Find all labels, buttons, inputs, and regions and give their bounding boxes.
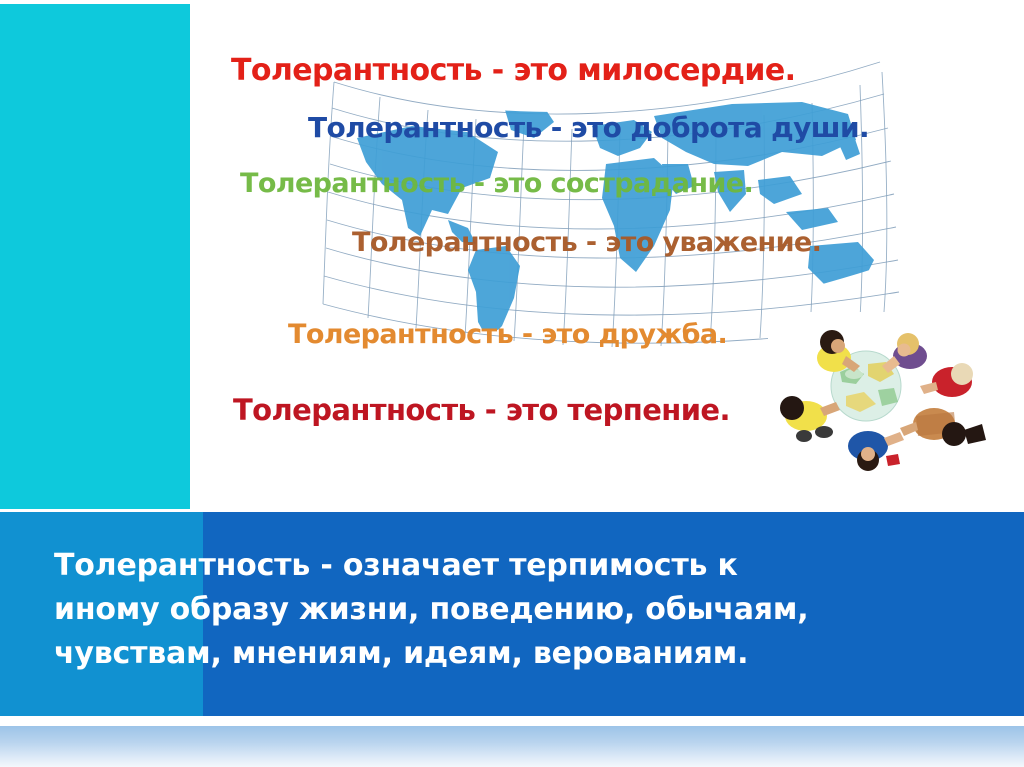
slogan-line-6: Толерантность - это терпение. bbox=[233, 396, 730, 425]
left-accent-sidebar bbox=[0, 4, 190, 509]
caption-line-1: Толерантность - означает терпимость к bbox=[54, 544, 984, 588]
slogan-line-2: Толерантность - это доброта души. bbox=[308, 114, 869, 142]
slogan-line-1: Толерантность - это милосердие. bbox=[231, 56, 795, 86]
bottom-gradient-strip bbox=[0, 726, 1024, 767]
caption-text: Толерантность - означает терпимость к ин… bbox=[54, 544, 984, 676]
slogan-line-4: Толерантность - это уважение. bbox=[352, 229, 821, 256]
children-around-globe-photo bbox=[768, 312, 1010, 487]
caption-band: Толерантность - означает терпимость к ин… bbox=[0, 512, 1024, 716]
caption-line-3: чувствам, мнениям, идеям, верованиям. bbox=[54, 632, 984, 676]
slogan-line-3: Толерантность - это сострадание. bbox=[240, 170, 753, 197]
slogan-line-5: Толерантность - это дружба. bbox=[288, 321, 727, 348]
caption-line-2: иному образу жизни, поведению, обычаям, bbox=[54, 588, 984, 632]
presentation-slide: Толерантность - это милосердие. Толерант… bbox=[0, 0, 1024, 767]
bottom-white-gap bbox=[0, 716, 1024, 726]
